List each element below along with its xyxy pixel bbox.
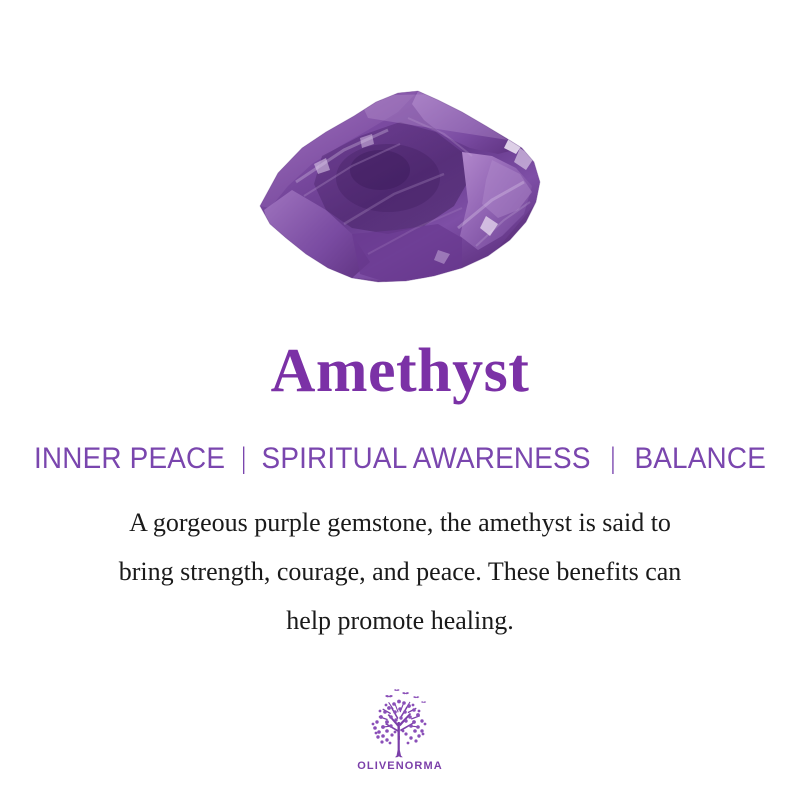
amethyst-info-card: Amethyst INNER PEACE | SPIRITUAL AWARENE… bbox=[0, 0, 800, 800]
keyword-separator: | bbox=[604, 440, 621, 478]
crystal-body bbox=[256, 91, 540, 290]
keyword-inner-peace: INNER PEACE bbox=[34, 442, 225, 475]
description-line: A gorgeous purple gemstone, the amethyst… bbox=[60, 498, 740, 547]
tree-with-birds-icon bbox=[361, 688, 439, 758]
description-text: A gorgeous purple gemstone, the amethyst… bbox=[60, 498, 740, 645]
description-line: help promote healing. bbox=[60, 596, 740, 645]
amethyst-crystal-image bbox=[248, 78, 548, 290]
page-title: Amethyst bbox=[0, 334, 800, 408]
hero-image-area bbox=[0, 0, 800, 320]
keyword-spiritual-awareness: SPIRITUAL AWARENESS bbox=[262, 442, 591, 475]
birds-icon bbox=[385, 689, 426, 703]
amethyst-crystal-illustration bbox=[248, 78, 548, 290]
brand-logo[interactable]: OLIVENORMA bbox=[0, 688, 800, 772]
brand-name: OLIVENORMA bbox=[0, 760, 800, 772]
keyword-balance: BALANCE bbox=[634, 442, 766, 475]
keyword-line: INNER PEACE | SPIRITUAL AWARENESS | BALA… bbox=[28, 440, 772, 478]
keyword-separator: | bbox=[237, 440, 249, 478]
description-line: bring strength, courage, and peace. Thes… bbox=[60, 547, 740, 596]
